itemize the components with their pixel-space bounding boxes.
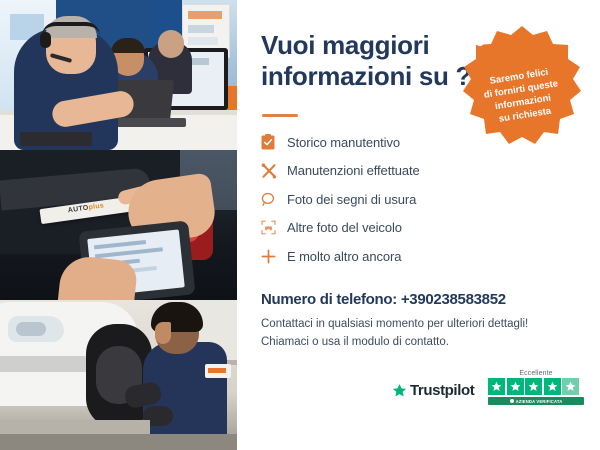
photo-inspection-tablet: AUTOplus bbox=[0, 150, 237, 300]
trustpilot-widget[interactable]: Trustpilot Eccellente AZIENDA VERIFICATA bbox=[392, 370, 587, 418]
star-1 bbox=[488, 378, 505, 395]
page-title-line2: informazioni su ? bbox=[261, 61, 476, 92]
feature-label: E molto altro ancora bbox=[287, 249, 401, 264]
phone-line: Numero di telefono: +390238583852 bbox=[261, 291, 506, 308]
feature-list: Storico manutentivo Manutenzioni effettu… bbox=[261, 128, 521, 271]
page-title: Vuoi maggiori informazioni su ? bbox=[261, 30, 476, 92]
feature-label: Storico manutentivo bbox=[287, 135, 400, 150]
contact-note-line2: Chiamaci o usa il modulo di contatto. bbox=[261, 336, 449, 348]
feature-item-storico: Storico manutentivo bbox=[261, 128, 521, 157]
feature-item-altro: E molto altro ancora bbox=[261, 242, 521, 271]
phone-label: Numero di telefono: bbox=[261, 291, 397, 308]
verified-label: AZIENDA VERIFICATA bbox=[516, 399, 563, 404]
trustpilot-rating: Eccellente AZIENDA VERIFICATA bbox=[488, 370, 584, 405]
page-title-line1: Vuoi maggiori bbox=[261, 30, 476, 61]
promo-card: AUTOplus Vuoi maggiori informazioni su ? bbox=[0, 0, 600, 450]
feature-label: Altre foto del veicolo bbox=[287, 220, 402, 235]
feature-label: Foto dei segni di usura bbox=[287, 192, 416, 207]
star-5 bbox=[562, 378, 579, 395]
trustpilot-wordmark: Trustpilot bbox=[410, 382, 474, 399]
star-4 bbox=[544, 378, 561, 395]
photo-mechanic-wheel bbox=[0, 300, 237, 450]
wrench-screwdriver-icon bbox=[261, 163, 287, 179]
title-divider bbox=[262, 114, 298, 117]
feature-label: Manutenzioni effettuate bbox=[287, 163, 420, 178]
feature-item-altre-foto: Altre foto del veicolo bbox=[261, 214, 521, 243]
rating-label: Eccellente bbox=[488, 370, 584, 377]
rating-stars bbox=[488, 378, 584, 395]
star-3 bbox=[525, 378, 542, 395]
photo-strip: AUTOplus bbox=[0, 0, 237, 450]
content-panel: Vuoi maggiori informazioni su ? Saremo f… bbox=[237, 0, 600, 450]
trustpilot-logo: Trustpilot bbox=[392, 382, 474, 399]
verified-badge: AZIENDA VERIFICATA bbox=[488, 397, 584, 405]
star-2 bbox=[507, 378, 524, 395]
clipboard-check-icon bbox=[261, 134, 287, 150]
car-frame-icon bbox=[261, 220, 287, 235]
headset-icon bbox=[459, 24, 485, 50]
trustpilot-star-icon bbox=[392, 383, 407, 398]
phone-number[interactable]: +390238583852 bbox=[401, 291, 506, 308]
feature-item-foto-usura: Foto dei segni di usura bbox=[261, 185, 521, 214]
plus-icon bbox=[261, 249, 287, 264]
magnifier-icon bbox=[261, 192, 287, 207]
feature-item-manutenzioni: Manutenzioni effettuate bbox=[261, 157, 521, 186]
verified-check-icon bbox=[510, 399, 514, 403]
contact-note-line1: Contattaci in qualsiasi momento per ulte… bbox=[261, 318, 528, 330]
photo-call-center bbox=[0, 0, 237, 150]
